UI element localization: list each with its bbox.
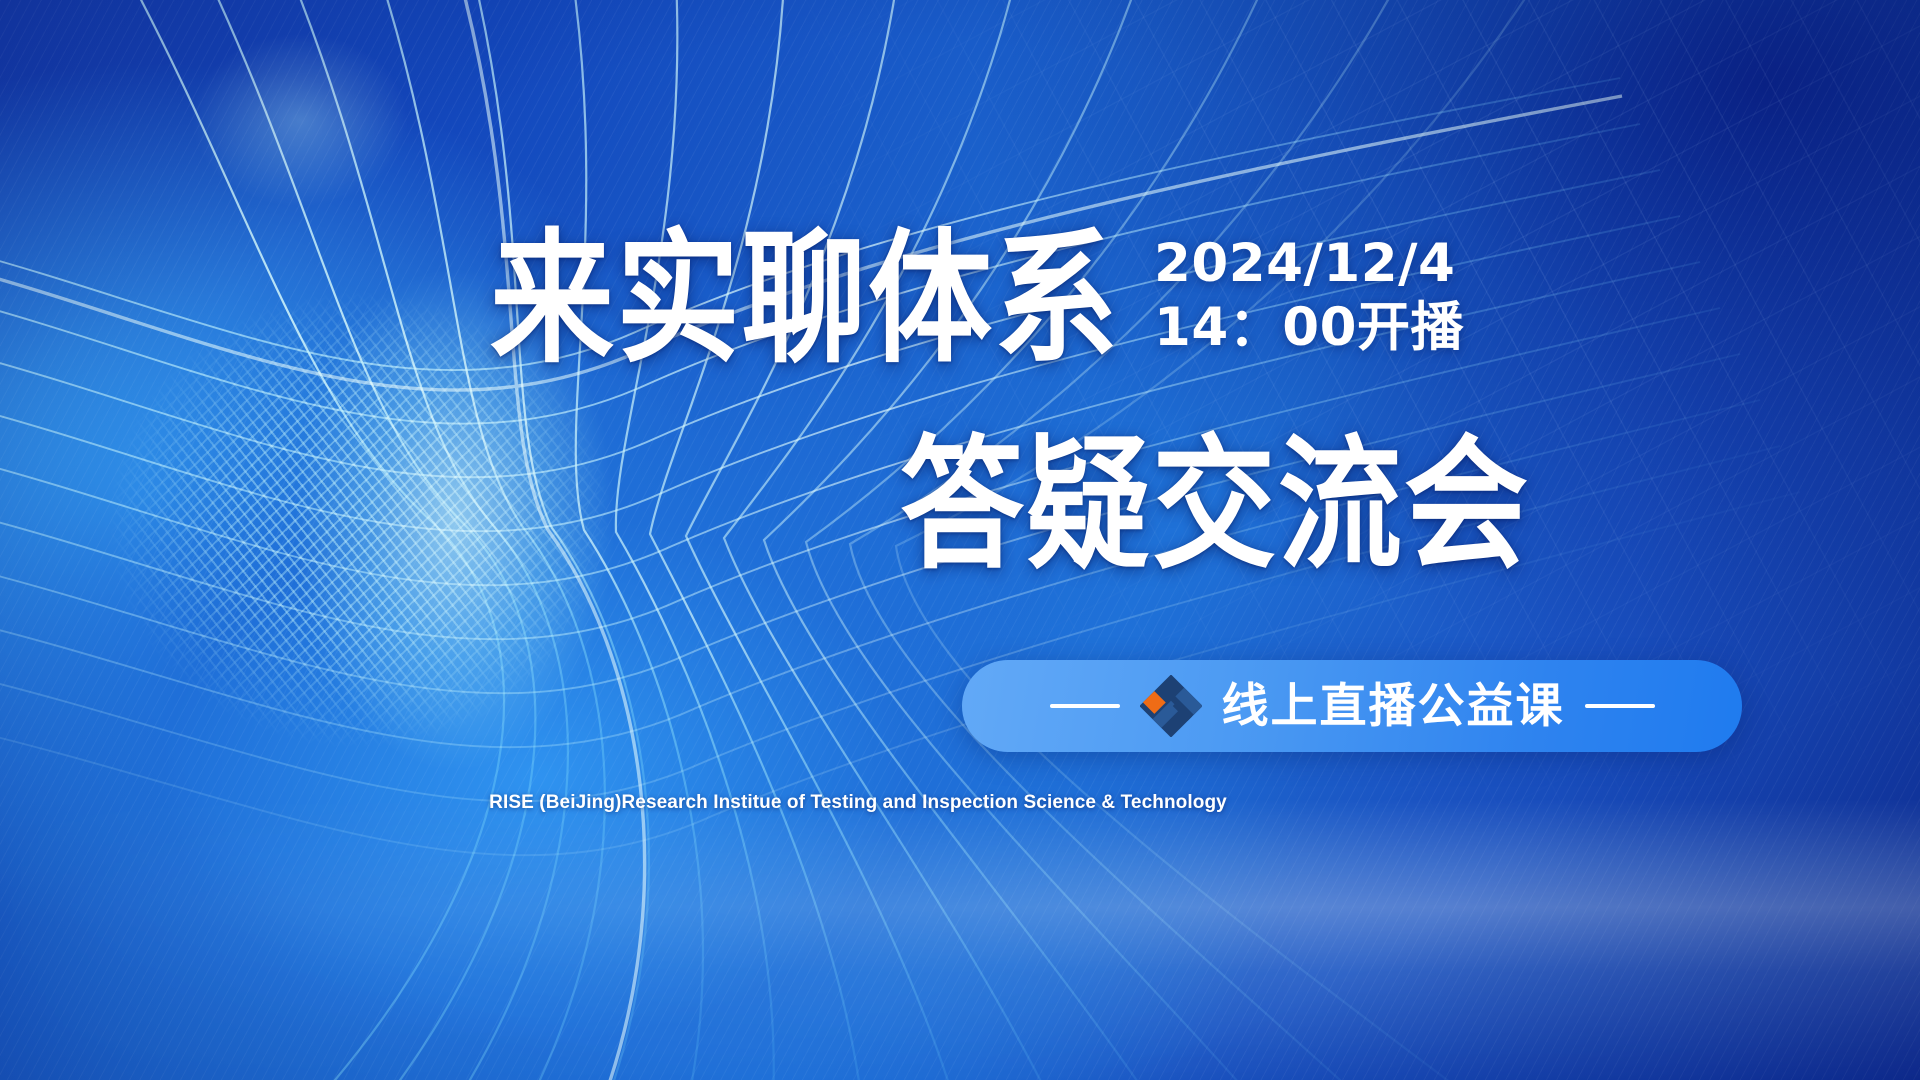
schedule-block: 2024/12/4 14：00开播	[1154, 228, 1464, 356]
badge-rule-right	[1585, 704, 1655, 708]
badge-rule-left	[1050, 704, 1120, 708]
rise-diamond-logo-icon	[1140, 675, 1202, 737]
badge-label: 线上直播公益课	[1222, 683, 1565, 730]
headline-row-primary: 来实聊体系 2024/12/4 14：00开播	[490, 228, 1464, 356]
broadcast-date: 2024/12/4	[1154, 236, 1464, 292]
banner-content: 来实聊体系 2024/12/4 14：00开播 答疑交流会 线上直播公益课	[0, 0, 1920, 1080]
headline-line-1: 来实聊体系	[490, 228, 1120, 372]
headline-row-secondary: 答疑交流会	[900, 434, 1530, 558]
organization-english-name: RISE (BeiJing)Research Institue of Testi…	[0, 792, 1920, 814]
live-course-badge[interactable]: 线上直播公益课	[962, 660, 1742, 752]
broadcast-time: 14：00开播	[1154, 300, 1464, 356]
promo-banner: 来实聊体系 2024/12/4 14：00开播 答疑交流会 线上直播公益课	[0, 0, 1920, 1080]
headline-line-2: 答疑交流会	[900, 434, 1530, 578]
